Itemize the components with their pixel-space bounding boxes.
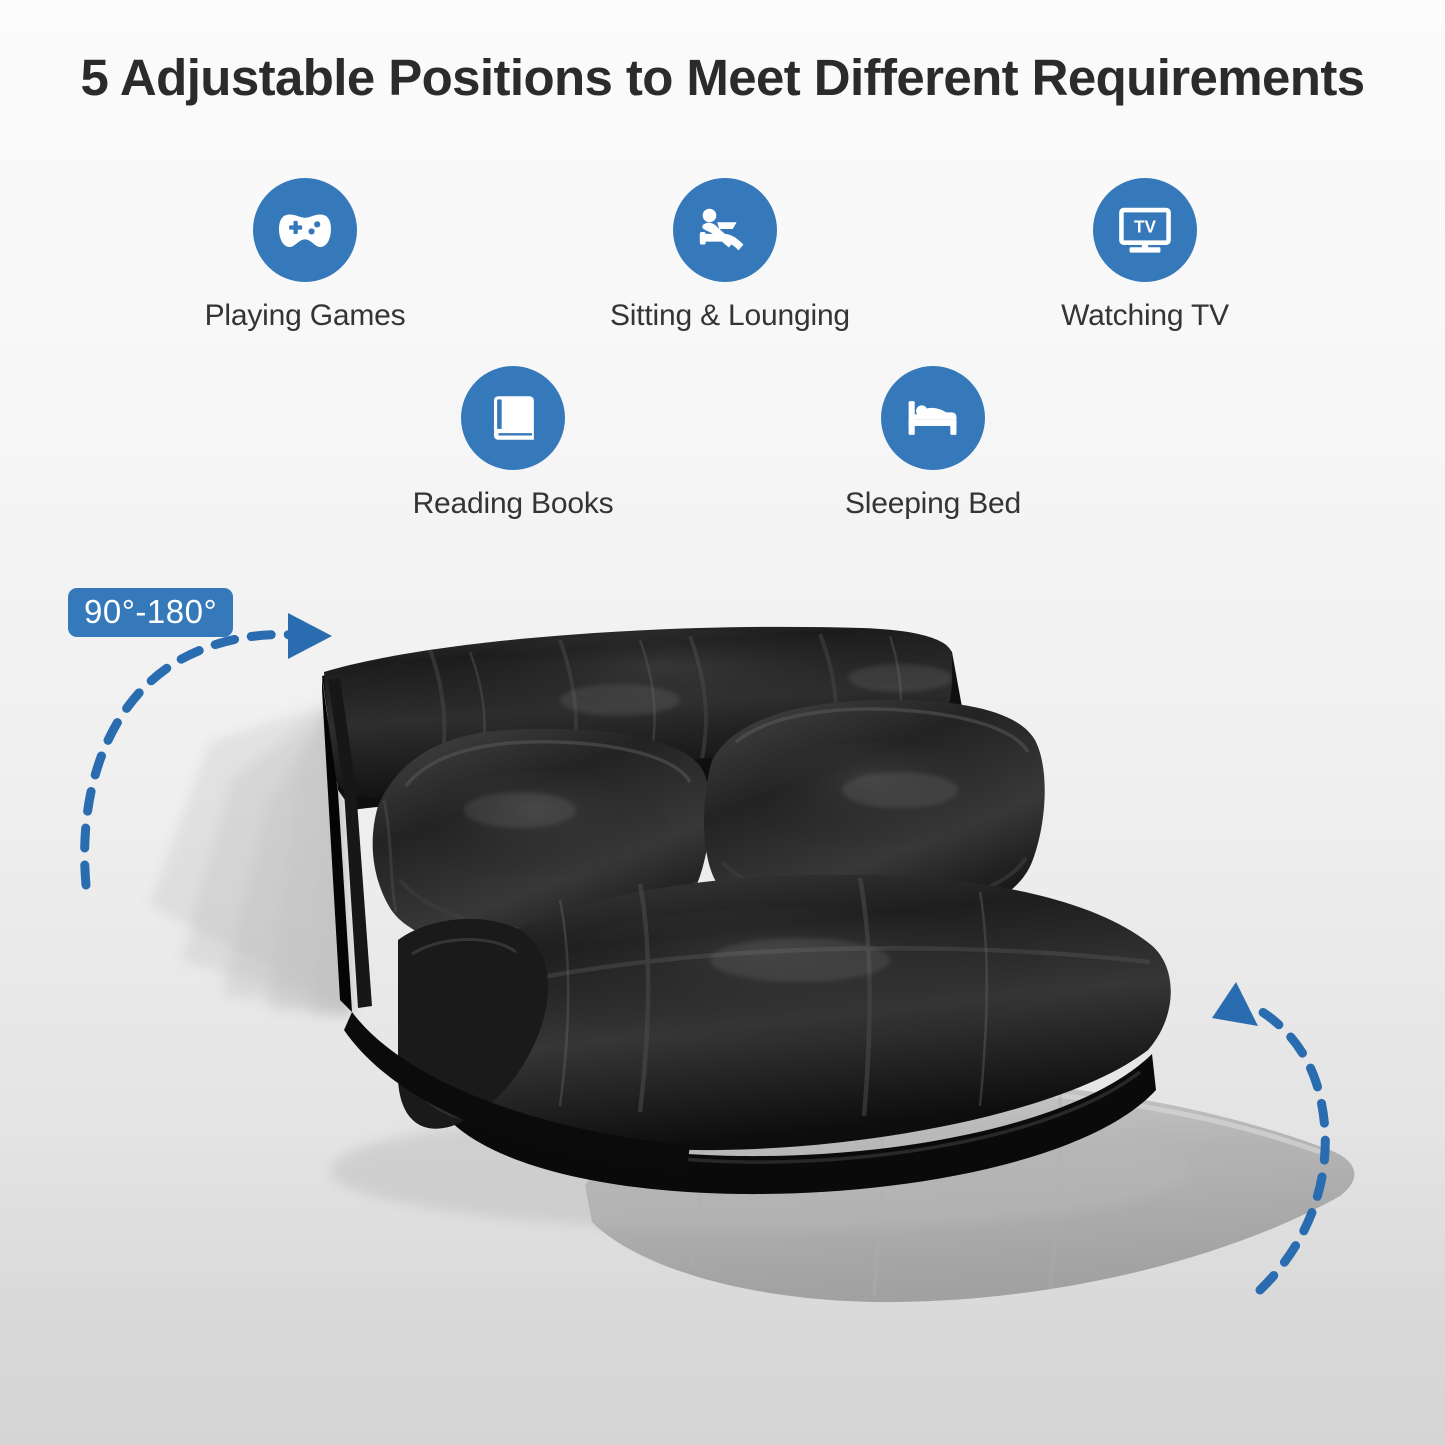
feature-label-books: Reading Books xyxy=(398,487,628,521)
feature-icon-circle-lounging xyxy=(673,178,777,282)
footrest-fold-arrow xyxy=(1140,960,1440,1320)
sofa-pillow-right xyxy=(704,700,1045,926)
sofa-backrest xyxy=(322,627,968,1012)
gamepad-icon xyxy=(275,200,335,260)
sofa-front-fold xyxy=(398,919,548,1129)
page-title: 5 Adjustable Positions to Meet Different… xyxy=(0,48,1445,107)
tv-screen-text: TV xyxy=(1134,217,1157,237)
feature-label-bed: Sleeping Bed xyxy=(818,487,1048,521)
sofa-base xyxy=(344,1012,690,1172)
ghost-backrest-positions xyxy=(150,688,352,1018)
feature-reading-books: Reading Books xyxy=(398,366,628,521)
feature-icon-circle-books xyxy=(461,366,565,470)
feature-label-tv: Watching TV xyxy=(1030,299,1260,333)
feature-label-lounging: Sitting & Lounging xyxy=(610,299,840,333)
book-icon xyxy=(484,389,542,447)
sofa-seat-cushion xyxy=(423,875,1171,1194)
tv-icon: TV xyxy=(1116,201,1174,259)
feature-label-games: Playing Games xyxy=(190,299,420,333)
feature-icon-circle-games xyxy=(253,178,357,282)
recliner-person-icon xyxy=(694,199,756,261)
ghost-extended-footrest xyxy=(585,1080,1354,1302)
feature-sitting-lounging: Sitting & Lounging xyxy=(610,178,840,333)
feature-playing-games: Playing Games xyxy=(190,178,420,333)
bed-person-icon xyxy=(903,388,963,448)
sofa-pillow-left xyxy=(373,729,711,952)
feature-sleeping-bed: Sleeping Bed xyxy=(818,366,1048,521)
feature-icon-circle-tv: TV xyxy=(1093,178,1197,282)
feature-watching-tv: TV Watching TV xyxy=(1030,178,1260,333)
feature-icon-circle-bed xyxy=(881,366,985,470)
angle-range-badge: 90°-180° xyxy=(68,588,233,637)
